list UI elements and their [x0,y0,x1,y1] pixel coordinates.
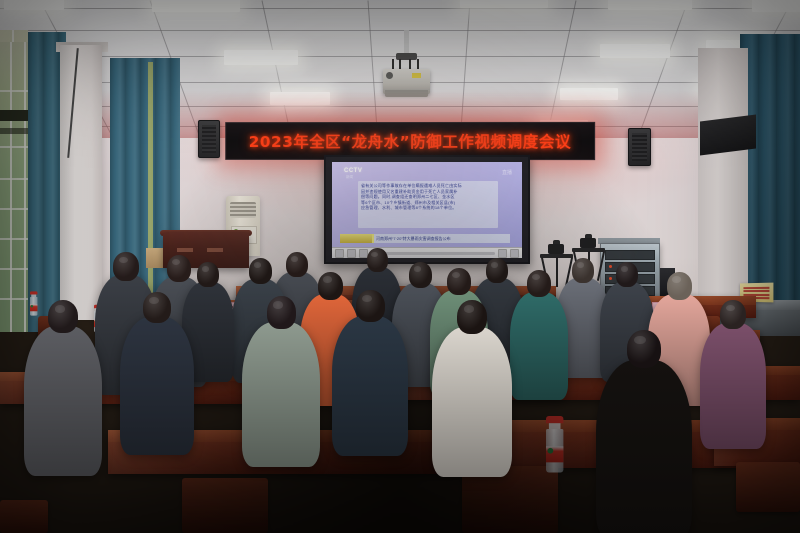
hair-highlight [532,274,540,280]
ceiling-light [608,0,692,10]
hair-highlight [634,336,646,344]
attendee-head [572,258,594,283]
wall-monitor-right [700,115,756,156]
ceiling-light [460,0,548,8]
water-bottle [30,291,37,297]
ceiling-light [224,50,298,65]
attendee [120,292,194,461]
attendee [332,290,408,462]
ceiling-light [152,0,240,12]
projector-indicator [412,73,421,78]
attendee-head [356,290,385,322]
hair-highlight [452,272,460,278]
hair-highlight [621,266,628,272]
attendee-head [249,258,272,284]
water-bottle [546,416,563,429]
chair [182,478,268,533]
hair-highlight [577,262,584,268]
hair-highlight [323,276,332,282]
attendee-head [48,300,78,333]
hair-highlight [202,266,209,272]
hair-highlight [149,297,159,304]
chair [0,500,48,533]
attendee-head [486,258,508,283]
broadcast-lower-third: 河南郑州“7·20”特大暴雨灾害调查报告公布 [340,234,510,243]
attendee-torso [332,316,408,456]
subtitle-line: 应急管理、水利、城市管理等8个系统的18个单位。 [361,205,495,211]
previous-button[interactable] [498,249,507,258]
hair-highlight [726,305,735,311]
attendee-torso [432,327,512,477]
attendee-head [197,262,219,287]
projector-lens [386,72,393,79]
attendee-head [527,270,551,297]
news-program-badge [340,234,372,243]
attendee-head [447,268,471,295]
hair-highlight [362,295,372,302]
attendee-head [367,248,388,272]
attendee [596,330,692,533]
attendee-torso [700,323,766,449]
next-button[interactable] [510,249,519,258]
attendee-torso [596,360,692,533]
attendee [242,296,320,474]
ceiling-light [600,44,670,58]
hair-highlight [464,305,474,312]
cctv-logo: CCTV [344,168,362,174]
wall-speaker-right [628,128,651,166]
hair-highlight [672,276,681,282]
hair-highlight [172,259,180,265]
hair-highlight [273,301,283,308]
projection-screen-surface: CCTV 新闻 直播 省有关公司等作事故存在单位瞒报遇难人员死亡由实际 因并违规… [332,162,522,247]
attendee-head [409,262,432,288]
live-badge: 直播 [502,169,512,176]
attendee-torso [242,322,320,467]
attendee-head [627,330,661,368]
hair-highlight [291,256,298,262]
led-banner-text: 2023年全区“龙舟水”防御工作视频调度会议 [249,130,571,152]
attendee-head [113,252,139,281]
attendee-torso [24,326,102,476]
hair-highlight [371,252,378,257]
attendee [432,300,512,484]
ceiling-light [752,0,800,12]
hair-highlight [55,305,65,312]
hair-highlight [119,257,128,263]
conference-room-photo: 2023年全区“龙舟水”防御工作视频调度会议 CCTV 新闻 直播 省有关公司等… [0,0,800,533]
attendee [24,300,102,483]
attendee-head [267,296,296,329]
attendee-torso [120,317,194,455]
play-button[interactable] [335,249,344,258]
attendee-head [457,300,487,334]
ceiling-light [4,0,64,10]
attendee-head [667,272,692,300]
chair [736,462,800,512]
attendee-head [720,300,746,329]
hair-highlight [254,262,262,268]
attendee-head [616,262,638,287]
cctv-sub-label: 新闻 [346,175,353,180]
attendee [700,300,766,455]
ac-vent [230,202,256,218]
lower-third-text: 河南郑州“7·20”特大暴雨灾害调查报告公布 [372,236,451,242]
hair-highlight [491,262,498,268]
attendee-head [143,292,171,323]
hair-highlight [414,266,422,272]
attendee [510,270,568,405]
broadcast-subtitle-box: 省有关公司等作事故存在单位瞒报遇难人员死亡由实际 因并违规使用又名重建补助资金用… [358,181,498,228]
attendee-torso [510,292,568,400]
wall-speaker-left [198,120,220,158]
